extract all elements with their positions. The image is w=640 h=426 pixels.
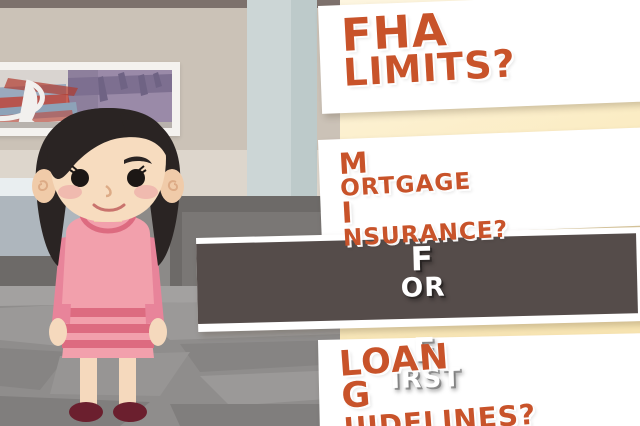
shoe-right (113, 402, 147, 422)
promo-graphic-canvas: FHA Limits? Mortgage Insurance? For Firs… (0, 0, 640, 426)
headline-fha-limits: FHA Limits? (340, 4, 517, 92)
hand-right (149, 318, 167, 346)
dress-top (62, 214, 154, 304)
cartoon-woman-standing (8, 108, 208, 426)
cheek-left (58, 185, 82, 199)
headline-loan-guidelines: Loan Guidelines? (338, 334, 537, 426)
shoe-left (69, 402, 103, 422)
hand-left (49, 318, 67, 346)
headline-fha-line2: Limits? (342, 45, 516, 92)
cheek-right (134, 185, 158, 199)
headline-mortgage-insurance: Mortgage Insurance? (338, 141, 509, 250)
